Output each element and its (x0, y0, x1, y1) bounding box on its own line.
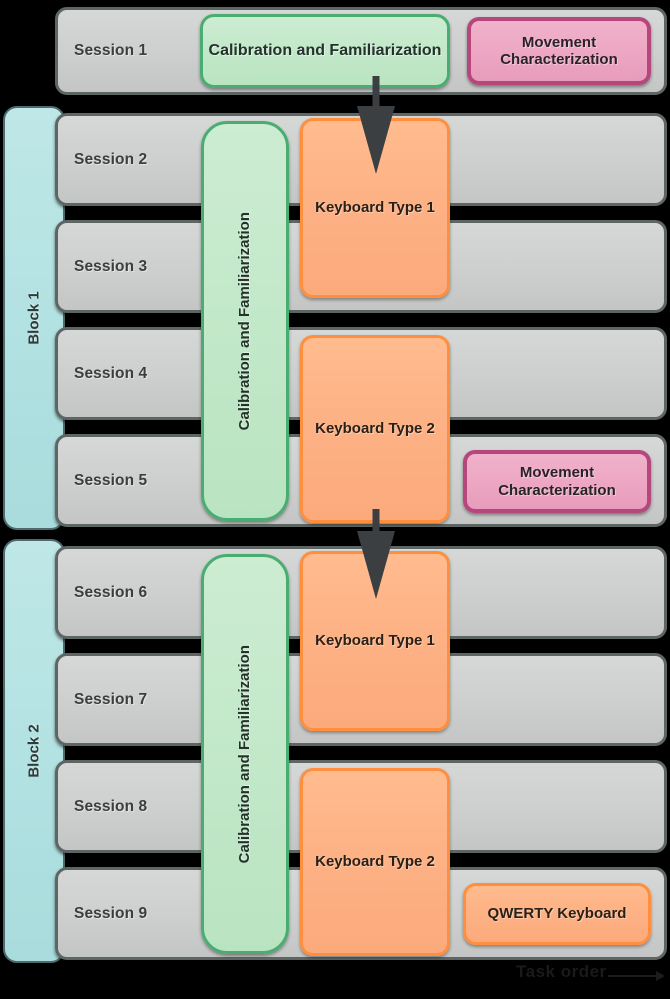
task-calibration-session1: Calibration and Familiarization (200, 14, 450, 88)
session-label-6: Session 6 (74, 584, 147, 602)
session-label-8: Session 8 (74, 798, 147, 816)
session-label-2: Session 2 (74, 151, 147, 169)
task-calibration-block1: Calibration and Familiarization (201, 121, 289, 521)
task-keyboard-type-2-block1: Keyboard Type 2 (300, 335, 450, 523)
task-qwerty-keyboard-session9-label: QWERTY Keyboard (488, 905, 627, 923)
task-order-rule (608, 975, 658, 977)
task-movement-session5: Movement Characterization (463, 450, 651, 513)
block-label-2: Block 2 (26, 724, 43, 777)
session-label-5: Session 5 (74, 472, 147, 490)
session-label-3: Session 3 (74, 258, 147, 276)
session-label-1: Session 1 (74, 42, 147, 60)
block-label-1: Block 1 (26, 291, 43, 344)
task-order-caption: Task order (516, 962, 607, 982)
task-movement-session1: Movement Characterization (467, 17, 651, 85)
task-keyboard-type-1-block1-label: Keyboard Type 1 (315, 199, 435, 217)
session-label-4: Session 4 (74, 365, 147, 383)
session-label-9: Session 9 (74, 905, 147, 923)
task-keyboard-type-1-block2-label: Keyboard Type 1 (315, 632, 435, 650)
arrow-calibration-to-keyboard1-block1 (355, 76, 397, 183)
task-order-arrowhead (656, 971, 665, 981)
session-label-7: Session 7 (74, 691, 147, 709)
task-calibration-block2: Calibration and Familiarization (201, 554, 289, 954)
task-qwerty-keyboard-session9: QWERTY Keyboard (463, 883, 651, 945)
arrow-keyboard2-block1-to-keyboard1-block2 (355, 509, 397, 611)
diagram-canvas: Session 1 Block 1 Session 2 Session 3 Se… (0, 0, 670, 999)
task-calibration-session1-label: Calibration and Familiarization (209, 42, 442, 60)
task-movement-session1-label: Movement Characterization (471, 34, 647, 68)
task-keyboard-type-2-block2-label: Keyboard Type 2 (315, 853, 435, 871)
task-keyboard-type-2-block1-label: Keyboard Type 2 (315, 420, 435, 438)
task-movement-session5-label: Movement Characterization (467, 464, 647, 498)
task-calibration-block2-label: Calibration and Familiarization (236, 645, 253, 863)
task-keyboard-type-2-block2: Keyboard Type 2 (300, 768, 450, 956)
task-calibration-block1-label: Calibration and Familiarization (236, 212, 253, 430)
